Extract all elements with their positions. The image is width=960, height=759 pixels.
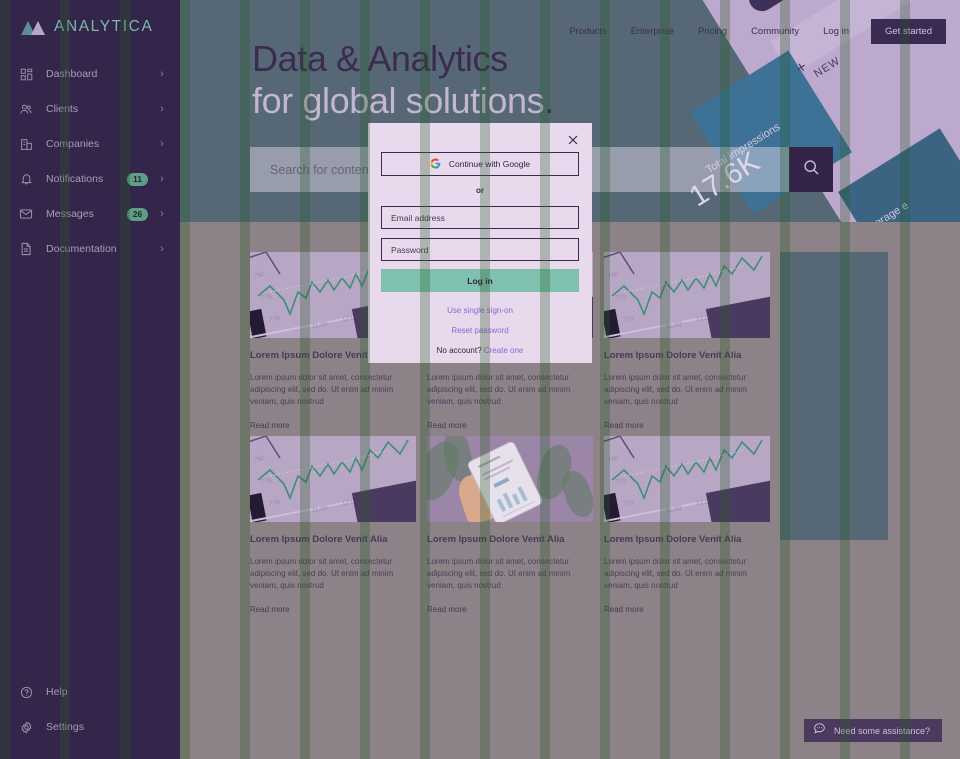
- chevron-right-icon: ›: [158, 68, 166, 80]
- bell-icon: [18, 171, 34, 187]
- sidebar-item-label: Help: [46, 686, 166, 698]
- login-modal: Continue with Google or Log in Use singl…: [368, 123, 592, 363]
- art-months-label: ths: [718, 0, 735, 1]
- card-body: Lorem ipsum dolor sit amet, consectetur …: [427, 372, 579, 408]
- chevron-right-icon: ›: [158, 243, 166, 255]
- card-title: Lorem Ipsum Dolore Venit Alia: [427, 534, 593, 545]
- messages-badge: 26: [127, 208, 148, 221]
- hero-title-period: .: [544, 80, 554, 121]
- sidebar-item-label: Clients: [46, 103, 158, 115]
- art-average-label: Average e: [862, 200, 911, 222]
- google-icon: [430, 158, 441, 171]
- gear-icon: [18, 719, 34, 735]
- phone-in-hand-photo: [427, 436, 593, 522]
- hero-title-line1: Data & Analytics: [252, 38, 554, 80]
- envelope-icon: [18, 206, 34, 222]
- read-more-link[interactable]: Read more: [427, 605, 593, 614]
- sidebar-item-label: Companies: [46, 138, 158, 150]
- sidebar-item-companies[interactable]: Companies ›: [0, 132, 180, 156]
- read-more-link[interactable]: Read more: [604, 605, 770, 614]
- brand[interactable]: ANALYTICA: [0, 0, 180, 36]
- close-icon[interactable]: [565, 132, 581, 148]
- list-item[interactable]: 780 775 770 11:00 12:00 Lorem Ipsum Dolo…: [604, 436, 770, 614]
- sidebar-item-dashboard[interactable]: Dashboard ›: [0, 62, 180, 86]
- read-more-link[interactable]: Read more: [427, 421, 593, 430]
- create-one-link[interactable]: Create one: [484, 346, 524, 355]
- topnav-link-community[interactable]: Community: [739, 26, 811, 37]
- chevron-right-icon: ›: [158, 138, 166, 150]
- sidebar-item-label: Documentation: [46, 243, 158, 255]
- sidebar-item-label: Settings: [46, 721, 166, 733]
- card-body: Lorem ipsum dolor sit amet, consectetur …: [604, 556, 756, 592]
- list-item[interactable]: 780 775 770 11:00 12:00 Lorem Ipsum Dolo…: [604, 252, 770, 430]
- card-title: Lorem Ipsum Dolore Venit Alia: [604, 350, 770, 361]
- notifications-badge: 11: [127, 173, 148, 186]
- read-more-link[interactable]: Read more: [250, 421, 416, 430]
- mountain-logo-icon: [21, 19, 45, 35]
- sidebar-item-clients[interactable]: Clients ›: [0, 97, 180, 121]
- line-chart-photo: 780 775 770 11:00 12:00: [604, 252, 770, 338]
- brand-name: ANALYTICA: [54, 18, 153, 36]
- sidebar-item-messages[interactable]: Messages 26 ›: [0, 202, 180, 226]
- art-new-label: NEW: [812, 55, 843, 80]
- topnav-link-enterprise[interactable]: Enterprise: [619, 26, 686, 37]
- continue-with-google-button[interactable]: Continue with Google: [381, 152, 579, 176]
- sidebar-item-settings[interactable]: Settings: [0, 715, 180, 739]
- plus-icon: +: [792, 57, 811, 79]
- password-field[interactable]: [381, 238, 579, 261]
- line-chart-photo: 780 775 770 11:00 12:00: [250, 436, 416, 522]
- main-area: ths + NEW Total impressions 17.6K Averag…: [180, 0, 960, 759]
- google-button-label: Continue with Google: [449, 159, 530, 169]
- sidebar-item-label: Messages: [46, 208, 127, 220]
- search-button[interactable]: [789, 147, 833, 192]
- topnav-link-products[interactable]: Products: [557, 26, 619, 37]
- hero-title-line2: for global solutions: [252, 80, 544, 121]
- read-more-link[interactable]: Read more: [604, 421, 770, 430]
- card-title: Lorem Ipsum Dolore Venit Alia: [250, 534, 416, 545]
- building-icon: [18, 136, 34, 152]
- login-button[interactable]: Log in: [381, 269, 579, 292]
- topnav-link-login[interactable]: Log in: [811, 26, 861, 37]
- email-field[interactable]: [381, 206, 579, 229]
- card-title: Lorem Ipsum Dolore Venit Alia: [604, 534, 770, 545]
- sidebar: ANALYTICA Dashboard ›: [0, 0, 180, 759]
- card-body: Lorem ipsum dolor sit amet, consectetur …: [250, 556, 402, 592]
- get-started-button[interactable]: Get started: [871, 19, 946, 44]
- card-body: Lorem ipsum dolor sit amet, consectetur …: [250, 372, 402, 408]
- single-sign-on-link[interactable]: Use single sign-on: [368, 306, 592, 315]
- sidebar-item-notifications[interactable]: Notifications 11 ›: [0, 167, 180, 191]
- chevron-right-icon: ›: [158, 173, 166, 185]
- assistance-chat-button[interactable]: Need some assistance?: [804, 719, 942, 742]
- chevron-right-icon: ›: [158, 103, 166, 115]
- top-navigation: Products Enterprise Pricing Community Lo…: [557, 19, 946, 44]
- chevron-right-icon: ›: [158, 208, 166, 220]
- reset-password-link[interactable]: Reset password: [368, 326, 592, 335]
- no-account-row: No account? Create one: [368, 346, 592, 355]
- question-circle-icon: [18, 684, 34, 700]
- sidebar-item-documentation[interactable]: Documentation ›: [0, 237, 180, 261]
- sidebar-bottom-nav: Help Settings: [0, 680, 180, 739]
- sidebar-item-help[interactable]: Help: [0, 680, 180, 704]
- topnav-link-pricing[interactable]: Pricing: [686, 26, 739, 37]
- users-icon: [18, 101, 34, 117]
- list-item[interactable]: 780 775 770 11:00 12:00 Lorem Ipsum Dolo…: [250, 436, 416, 614]
- line-chart-photo: 780 775 770 11:00 12:00: [604, 436, 770, 522]
- chat-bubble-icon: [813, 722, 826, 740]
- sidebar-item-label: Notifications: [46, 173, 127, 185]
- document-icon: [18, 241, 34, 257]
- or-divider-label: or: [368, 186, 592, 195]
- read-more-link[interactable]: Read more: [250, 605, 416, 614]
- app-root: ANALYTICA Dashboard ›: [0, 0, 960, 759]
- card-body: Lorem ipsum dolor sit amet, consectetur …: [604, 372, 756, 408]
- sidebar-nav: Dashboard › Clients ›: [0, 62, 180, 261]
- chat-label: Need some assistance?: [834, 726, 930, 736]
- search-icon: [803, 159, 820, 181]
- side-promo-panel: [780, 252, 888, 540]
- sidebar-item-label: Dashboard: [46, 68, 158, 80]
- list-item[interactable]: Lorem Ipsum Dolore Venit Alia Lorem ipsu…: [427, 436, 593, 614]
- dashboard-icon: [18, 66, 34, 82]
- page-title: Data & Analytics for global solutions.: [252, 38, 554, 122]
- no-account-text: No account?: [437, 346, 482, 355]
- card-body: Lorem ipsum dolor sit amet, consectetur …: [427, 556, 579, 592]
